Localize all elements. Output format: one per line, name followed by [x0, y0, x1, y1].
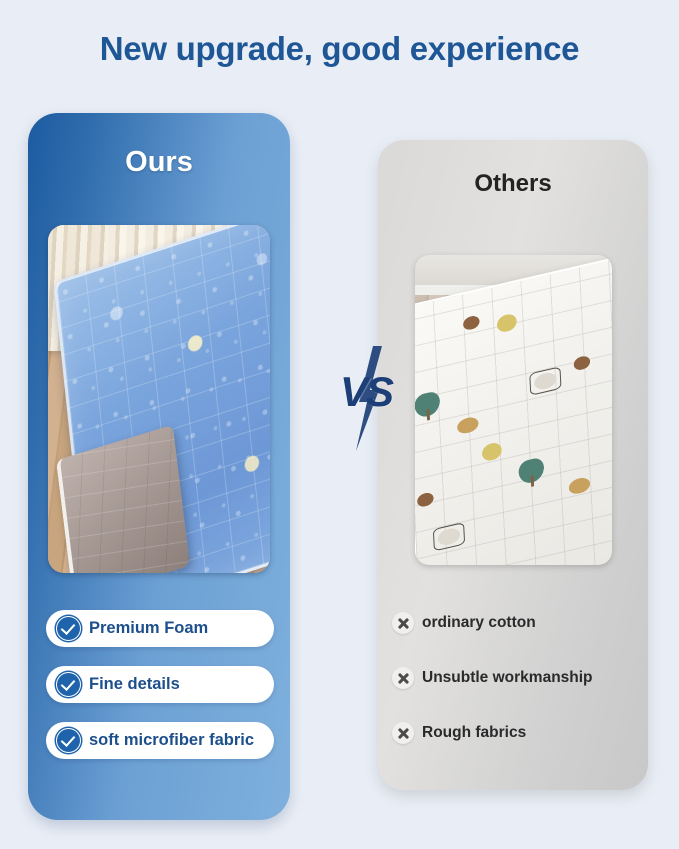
others-product-photo	[415, 255, 612, 565]
list-item: ordinary cotton	[392, 610, 648, 636]
list-item-label: Unsubtle workmanship	[422, 669, 593, 687]
list-item: Premium Foam	[46, 610, 274, 647]
list-item: Rough fabrics	[392, 720, 648, 746]
check-circle-icon	[56, 728, 81, 753]
ours-product-photo	[48, 225, 270, 573]
list-item-label: Rough fabrics	[422, 724, 526, 742]
x-circle-icon	[392, 612, 414, 634]
ours-panel: Ours Premium Foam Fine details soft mi	[28, 113, 290, 820]
ours-panel-title: Ours	[28, 146, 290, 179]
comparison-infographic: New upgrade, good experience Ours Premiu…	[0, 0, 679, 849]
check-circle-icon	[56, 616, 81, 641]
list-item-label: soft microfiber fabric	[89, 731, 254, 750]
ours-feature-list: Premium Foam Fine details soft microfibe…	[46, 610, 274, 778]
vs-badge: VS	[340, 368, 408, 428]
list-item: Fine details	[46, 666, 274, 703]
list-item-label: ordinary cotton	[422, 614, 536, 632]
x-circle-icon	[392, 667, 414, 689]
list-item: soft microfiber fabric	[46, 722, 274, 759]
list-item: Unsubtle workmanship	[392, 665, 648, 691]
others-panel-title: Others	[378, 170, 648, 198]
others-drawback-list: ordinary cotton Unsubtle workmanship Rou…	[392, 610, 648, 775]
x-circle-icon	[392, 722, 414, 744]
page-title: New upgrade, good experience	[0, 30, 679, 68]
vs-label: VS	[340, 368, 408, 416]
list-item-label: Fine details	[89, 675, 180, 694]
check-circle-icon	[56, 672, 81, 697]
list-item-label: Premium Foam	[89, 619, 208, 638]
others-panel: Others	[378, 140, 648, 790]
